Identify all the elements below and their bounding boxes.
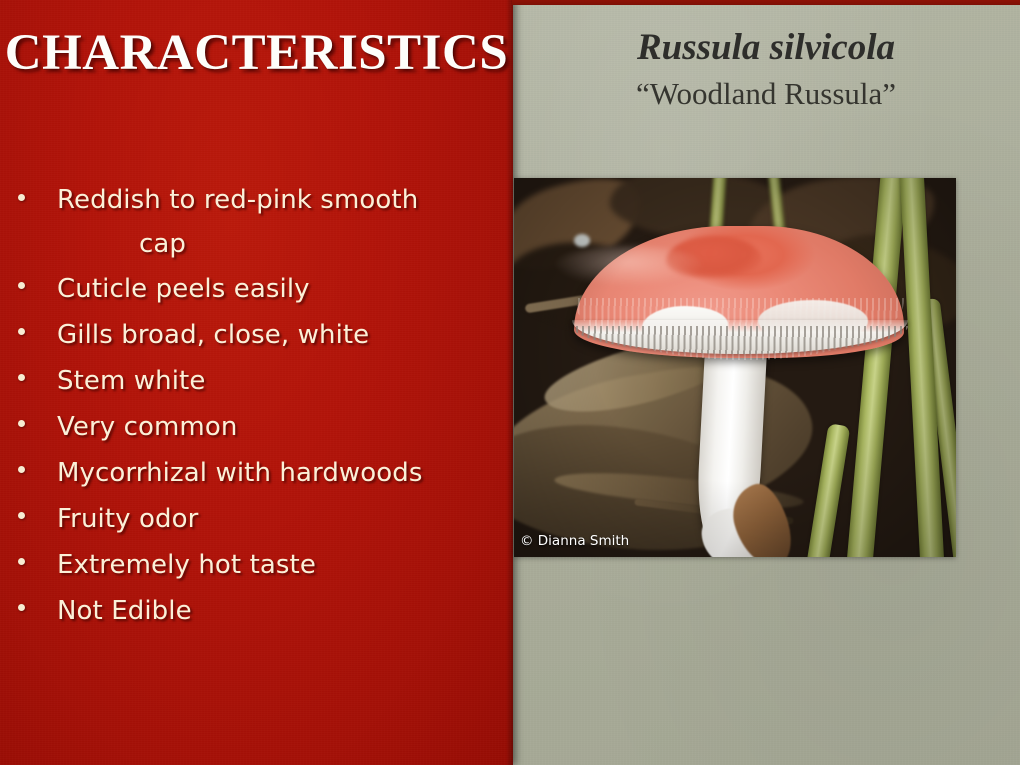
- page-title: CHARACTERISTICS: [0, 24, 513, 82]
- characteristics-list: Reddish to red-pink smoothcap Cuticle pe…: [0, 178, 513, 634]
- list-item-label: Gills broad, close, white: [57, 312, 513, 358]
- slide: CHARACTERISTICS Reddish to red-pink smoo…: [0, 0, 1020, 765]
- green-plant-stem: [804, 423, 851, 557]
- bullet-dot-icon: [18, 194, 25, 201]
- list-item-label: Reddish to red-pink smoothcap: [57, 178, 513, 266]
- mushroom-cap-highlight: [554, 246, 704, 286]
- list-item-label: Not Edible: [57, 588, 513, 634]
- bullet-dot-icon: [18, 282, 25, 289]
- list-item: Stem white: [0, 358, 513, 404]
- bullet-dot-icon: [18, 604, 25, 611]
- photo-background-forest-floor: [514, 178, 956, 557]
- list-item-line1: Reddish to red-pink smooth: [57, 185, 418, 215]
- list-item-label: Fruity odor: [57, 496, 513, 542]
- list-item-label: Very common: [57, 404, 513, 450]
- list-item-label: Extremely hot taste: [57, 542, 513, 588]
- mushroom-photo: © Dianna Smith: [514, 178, 956, 557]
- list-item-label: Stem white: [57, 358, 513, 404]
- top-red-accent-strip: [512, 0, 1020, 5]
- list-item: Very common: [0, 404, 513, 450]
- list-item: Extremely hot taste: [0, 542, 513, 588]
- bullet-dot-icon: [18, 558, 25, 565]
- list-item-label: Mycorrhizal with hardwoods: [57, 450, 513, 496]
- list-item: Fruity odor: [0, 496, 513, 542]
- list-item: Mycorrhizal with hardwoods: [0, 450, 513, 496]
- photo-credit: © Dianna Smith: [520, 533, 629, 549]
- list-item: Cuticle peels easily: [0, 266, 513, 312]
- scientific-name-heading: Russula silvicola: [512, 26, 1020, 69]
- list-item: Reddish to red-pink smoothcap: [0, 178, 513, 266]
- list-item-label: Cuticle peels easily: [57, 266, 513, 312]
- bullet-dot-icon: [18, 512, 25, 519]
- list-item: Gills broad, close, white: [0, 312, 513, 358]
- list-item-line2: cap: [57, 222, 513, 266]
- list-item: Not Edible: [0, 588, 513, 634]
- bullet-dot-icon: [18, 466, 25, 473]
- bullet-dot-icon: [18, 374, 25, 381]
- common-name-subheading: “Woodland Russula”: [512, 76, 1020, 112]
- bullet-dot-icon: [18, 328, 25, 335]
- highlight-spot: [574, 234, 590, 247]
- bullet-dot-icon: [18, 420, 25, 427]
